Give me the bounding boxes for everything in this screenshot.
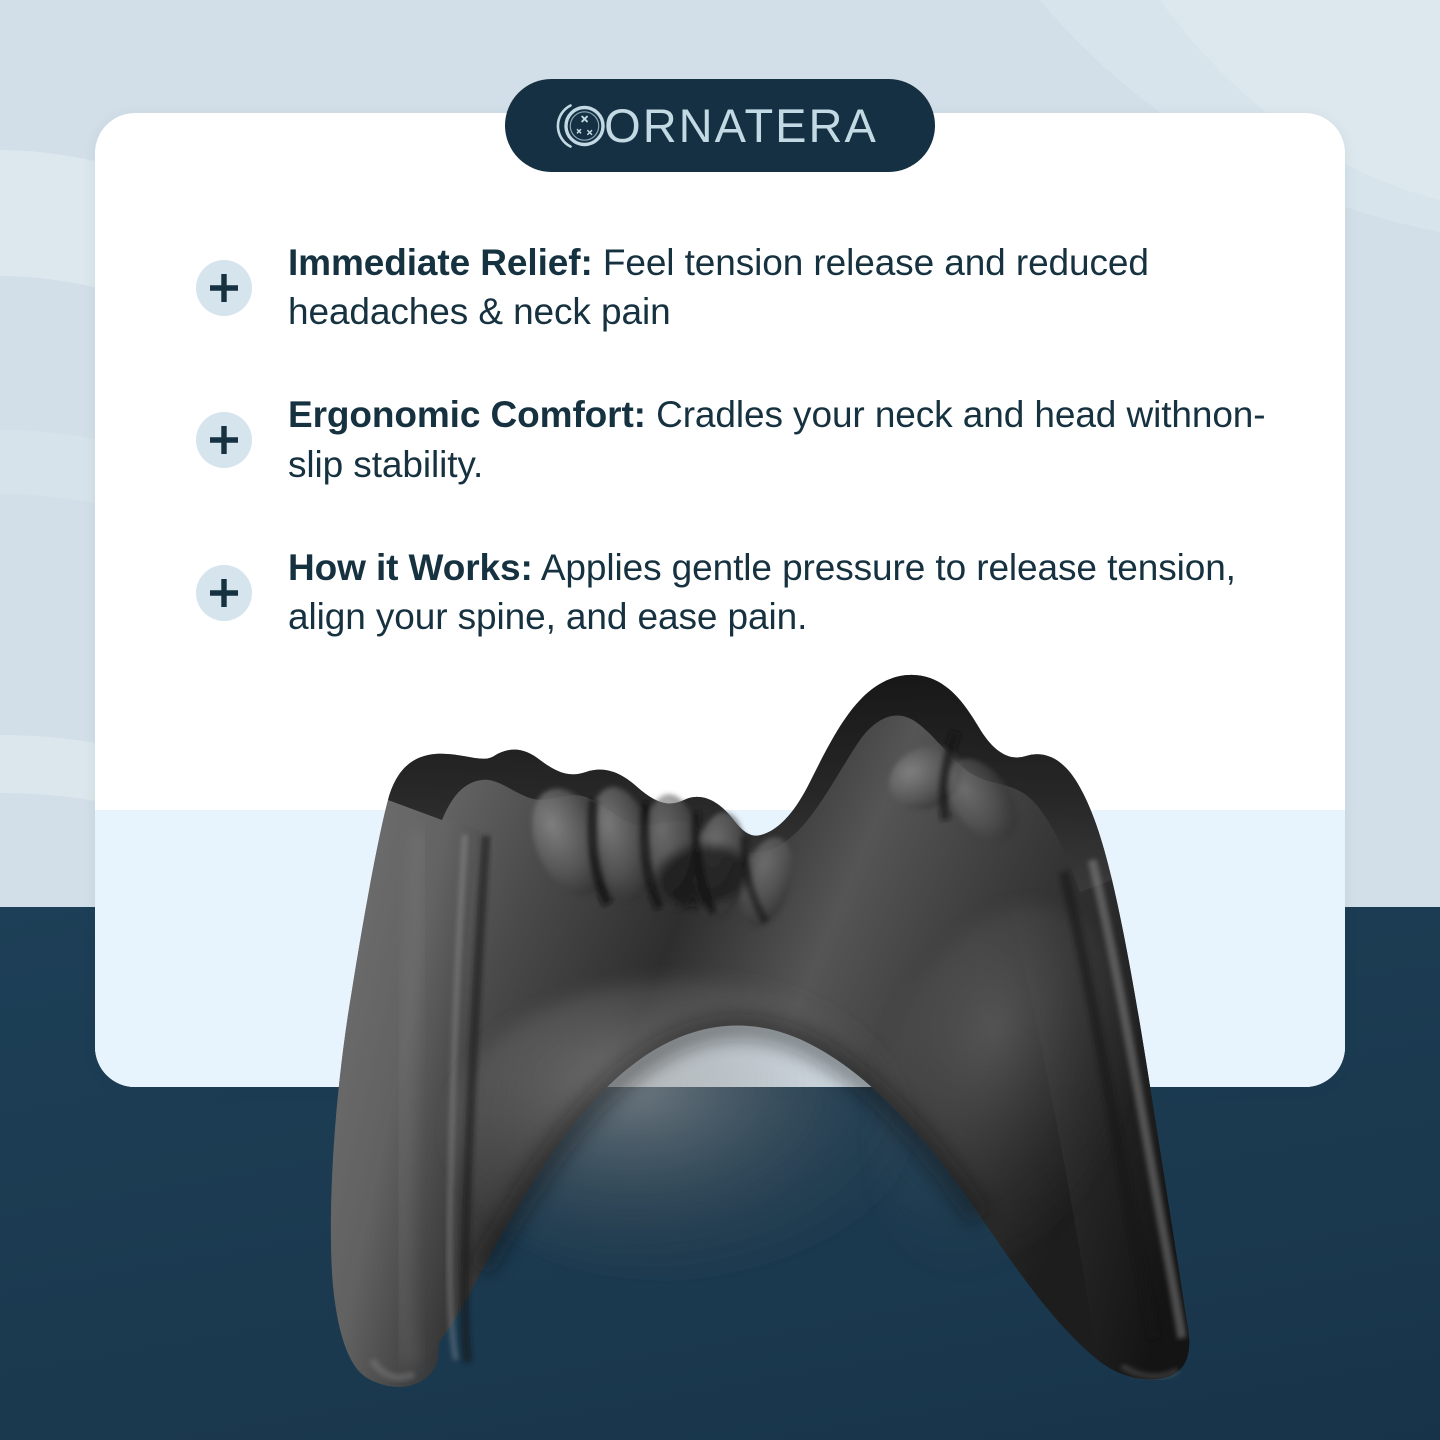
plus-icon <box>196 260 252 316</box>
feature-item: Immediate Relief: Feel tension release a… <box>196 238 1266 336</box>
ornatera-circle-mark <box>554 98 610 154</box>
plus-icon <box>196 412 252 468</box>
brand-logo-badge[interactable]: ORNATERA <box>505 79 935 172</box>
feature-text: Ergonomic Comfort: Cradles your neck and… <box>288 390 1266 488</box>
feature-list: Immediate Relief: Feel tension release a… <box>196 238 1266 641</box>
card-lower-tint <box>95 810 1345 1087</box>
feature-lead: Immediate Relief: <box>288 242 593 283</box>
feature-lead: Ergonomic Comfort: <box>288 394 646 435</box>
brand-name-text: ORNATERA <box>604 102 878 149</box>
feature-text: How it Works: Applies gentle pressure to… <box>288 543 1266 641</box>
feature-item: Ergonomic Comfort: Cradles your neck and… <box>196 390 1266 488</box>
feature-text: Immediate Relief: Feel tension release a… <box>288 238 1266 336</box>
plus-icon <box>196 565 252 621</box>
feature-item: How it Works: Applies gentle pressure to… <box>196 543 1266 641</box>
feature-lead: How it Works: <box>288 547 533 588</box>
